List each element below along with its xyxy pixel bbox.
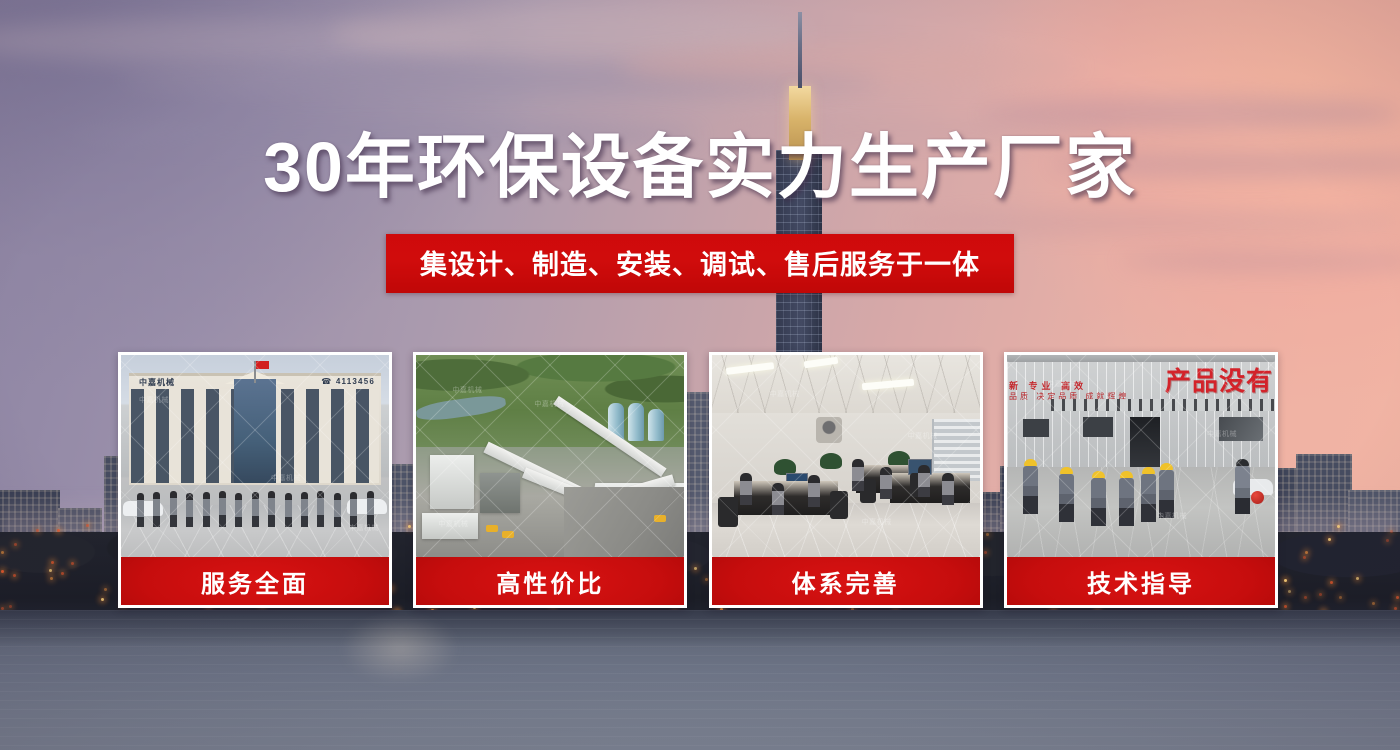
water-shimmer (0, 610, 1400, 750)
feature-card-service[interactable]: 中嘉机械 ☎ 4113456 中嘉机械 中嘉机械 中嘉机械 服务全面 (118, 352, 392, 608)
office-person (852, 459, 864, 491)
feature-card-system[interactable]: 中嘉机械 中嘉机械 中嘉机械 体系完善 (709, 352, 983, 608)
staff-figure (235, 493, 242, 527)
factory-workers-briefing-photo: 产品没有 新 专业 高效 品质 决定品质 成就辉煌 中嘉机械 中嘉机械 中嘉机械 (1007, 355, 1275, 557)
photo1-company-sign: 中嘉机械 (139, 377, 175, 388)
tower-spire (798, 12, 802, 88)
staff-figure (268, 491, 275, 527)
feature-card-list: 中嘉机械 ☎ 4113456 中嘉机械 中嘉机械 中嘉机械 服务全面 (118, 352, 1278, 608)
headline: 30年环保设备实力生产厂家 (0, 132, 1400, 202)
staff-figure (285, 493, 292, 527)
office-person (880, 467, 892, 499)
staff-figure (334, 493, 341, 527)
feature-card-label: 高性价比 (416, 557, 684, 605)
staff-figure (317, 491, 324, 527)
office-person (942, 473, 954, 505)
office-interior-staff-photo: 中嘉机械 中嘉机械 中嘉机械 (712, 355, 980, 557)
photo4-banner-large: 产品没有 (1165, 361, 1273, 398)
red-helmet (1251, 491, 1264, 504)
staff-figure (219, 491, 226, 527)
promo-banner: 30年环保设备实力生产厂家 集设计、制造、安装、调试、售后服务于一体 中嘉机械 … (0, 0, 1400, 750)
feature-card-value[interactable]: 中嘉机械 中嘉机械 中嘉机械 高性价比 (413, 352, 687, 608)
feature-card-guidance[interactable]: 产品没有 新 专业 高效 品质 决定品质 成就辉煌 中嘉机械 中嘉机械 中嘉机械… (1004, 352, 1278, 608)
staff-figure (252, 492, 259, 527)
photo1-phone-sign: ☎ 4113456 (321, 377, 375, 386)
staff-figure (170, 491, 177, 527)
aerial-industrial-plant-photo: 中嘉机械 中嘉机械 中嘉机械 (416, 355, 684, 557)
feature-card-label: 体系完善 (712, 557, 980, 605)
office-building-staff-photo: 中嘉机械 ☎ 4113456 中嘉机械 中嘉机械 中嘉机械 (121, 355, 389, 557)
office-person (918, 465, 930, 497)
river-water (0, 610, 1400, 750)
office-person (808, 475, 820, 507)
staff-figure (186, 493, 193, 527)
office-person (740, 473, 752, 505)
staff-figure (203, 492, 210, 527)
staff-figure (367, 491, 374, 527)
subtitle-bar: 集设计、制造、安装、调试、售后服务于一体 (386, 234, 1014, 293)
water-reflection-glow (340, 614, 460, 684)
office-person (772, 483, 784, 515)
feature-card-label: 技术指导 (1007, 557, 1275, 605)
staff-figure (301, 492, 308, 527)
subtitle-bar-wrapper: 集设计、制造、安装、调试、售后服务于一体 (386, 234, 1014, 293)
staff-figure (153, 492, 160, 527)
feature-card-label: 服务全面 (121, 557, 389, 605)
staff-figure (137, 493, 144, 527)
staff-figure (350, 492, 357, 527)
